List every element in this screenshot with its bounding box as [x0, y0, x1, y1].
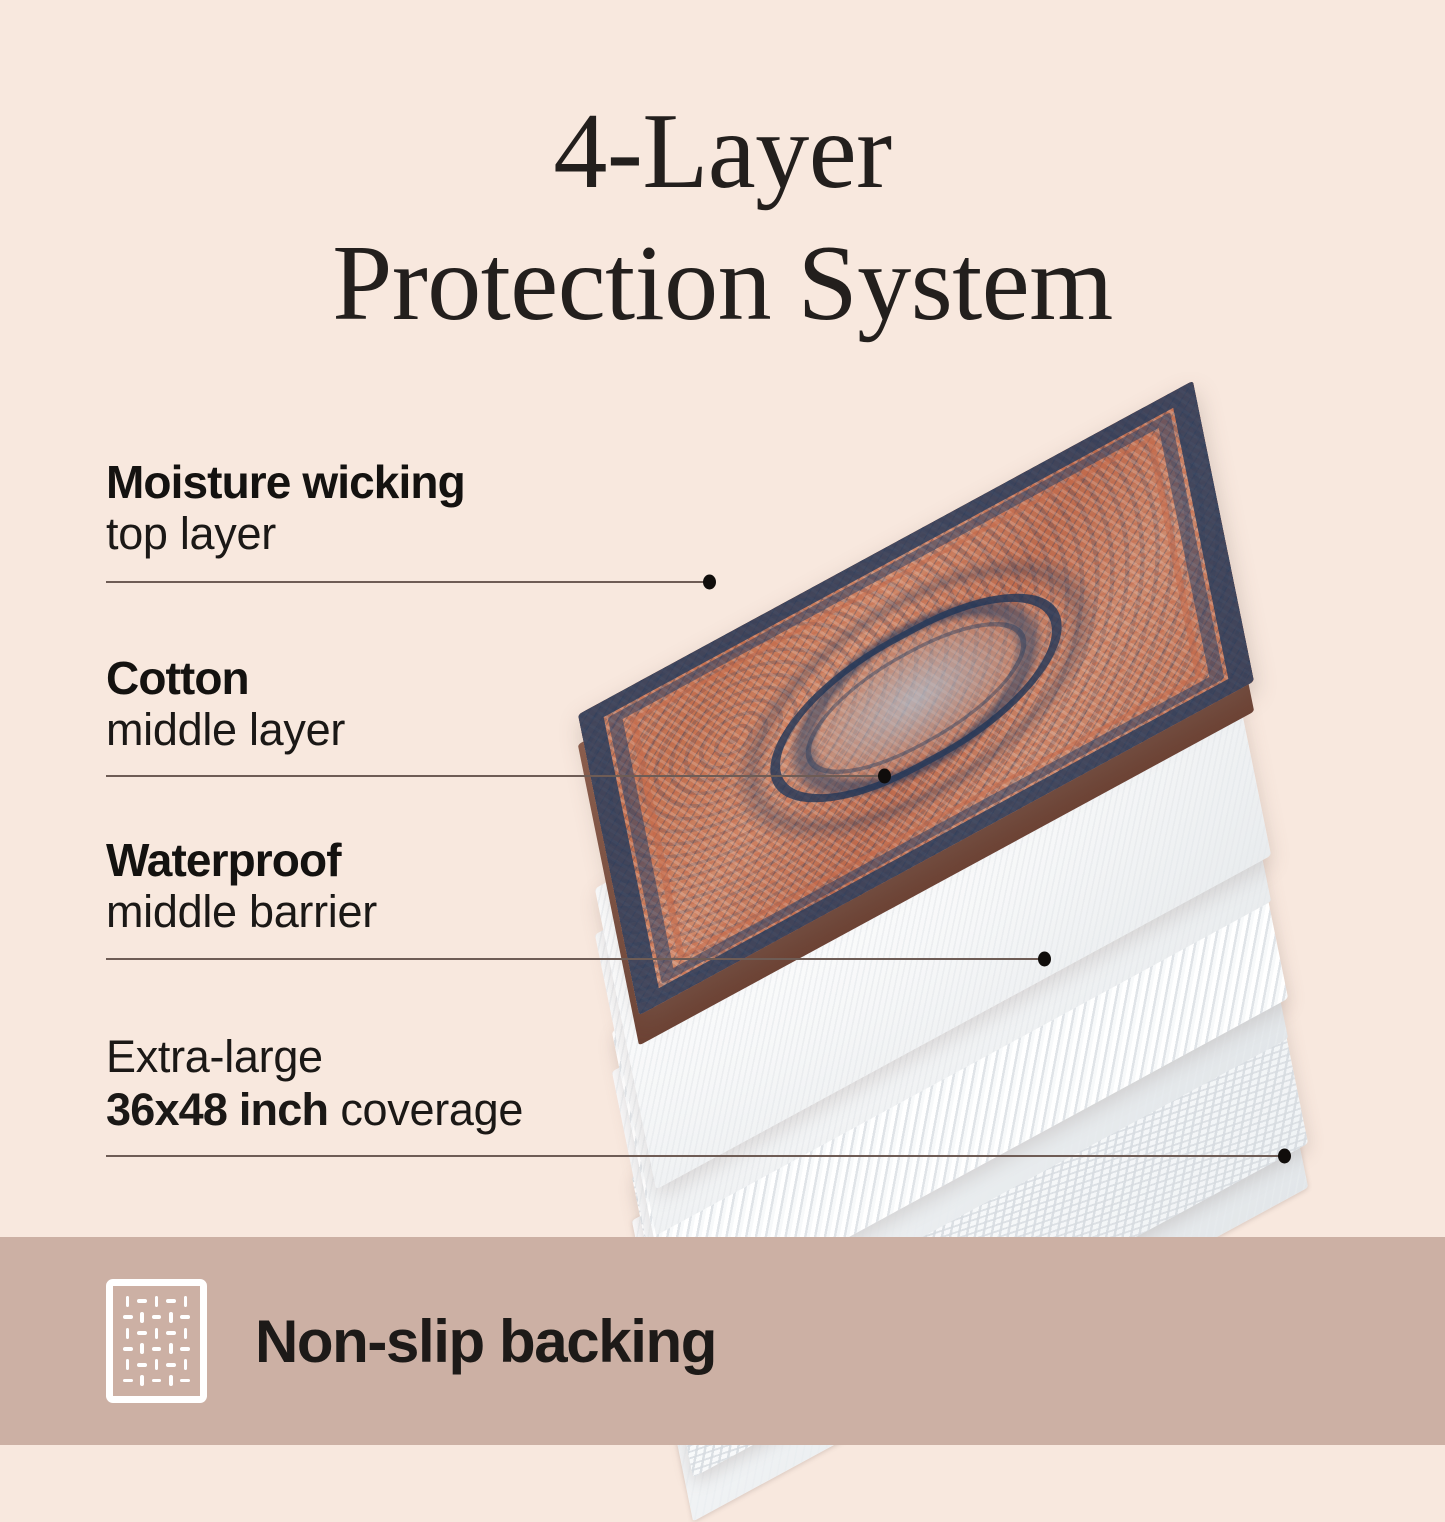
- label-light-extra-large: Extra-large: [106, 1030, 523, 1083]
- footer-bar: Non-slip backing: [0, 1237, 1445, 1445]
- label-strong-waterproof: Waterproof: [106, 836, 377, 885]
- leader-dot-extra-large: [1278, 1149, 1291, 1164]
- label-block-waterproof: Waterproof middle barrier: [106, 836, 377, 938]
- leader-line-extra-large: [106, 1155, 1285, 1157]
- label-light-moisture-wicking: top layer: [106, 507, 465, 560]
- label-strong-moisture-wicking: Moisture wicking: [106, 458, 465, 507]
- label-light-waterproof: middle barrier: [106, 885, 377, 938]
- leader-line-waterproof: [106, 958, 1045, 960]
- leader-dot-waterproof: [1038, 952, 1051, 967]
- label-coverage-extra-large: 36x48 inch coverage: [106, 1083, 523, 1136]
- footer-label: Non-slip backing: [255, 1307, 716, 1376]
- label-block-extra-large: Extra-large 36x48 inch coverage: [106, 1030, 523, 1136]
- non-slip-grip-icon: [106, 1279, 207, 1403]
- title-line-2: Protection System: [0, 218, 1445, 350]
- page-title: 4-Layer Protection System: [0, 86, 1445, 350]
- stack-layer-rug-top: [566, 438, 1266, 958]
- leader-line-moisture-wicking: [106, 581, 710, 583]
- label-light-cotton: middle layer: [106, 703, 345, 756]
- leader-dot-cotton: [878, 769, 891, 784]
- stack-layer-waterproof-barrier: [600, 755, 1300, 1275]
- label-strong-cotton: Cotton: [106, 654, 345, 703]
- label-block-cotton: Cotton middle layer: [106, 654, 345, 756]
- leader-dot-moisture-wicking: [703, 575, 716, 590]
- stack-layer-cotton-batting: [583, 612, 1283, 1132]
- label-block-moisture-wicking: Moisture wicking top layer: [106, 458, 465, 560]
- leader-line-cotton: [106, 775, 885, 777]
- title-line-1: 4-Layer: [0, 86, 1445, 218]
- label-strong-extra-large: 36x48 inch: [106, 1084, 328, 1135]
- label-light2-extra-large: coverage: [328, 1084, 523, 1135]
